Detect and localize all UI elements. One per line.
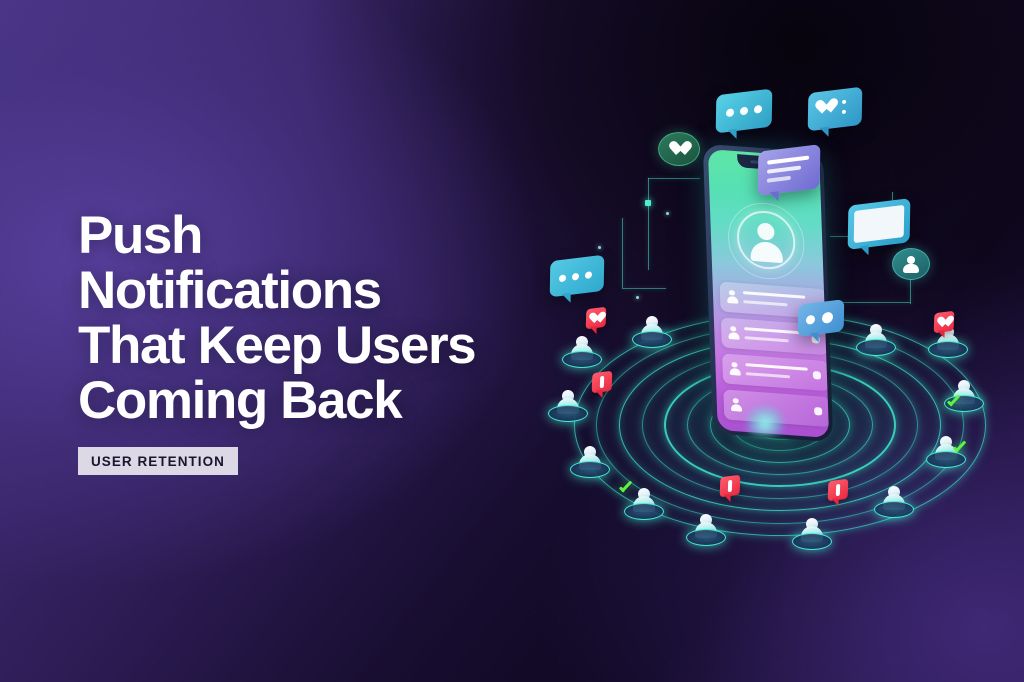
- user-node[interactable]: [632, 308, 672, 348]
- person-icon: [903, 256, 919, 273]
- person-icon: [729, 361, 740, 375]
- sparkle: [666, 212, 669, 215]
- dot-icon: [726, 108, 734, 117]
- avatar-pad: [874, 501, 914, 518]
- avatar-pad: [570, 461, 610, 478]
- user-node[interactable]: [624, 480, 664, 520]
- text-line: [767, 166, 801, 174]
- connector-wire: [622, 288, 666, 289]
- heart-icon: [818, 99, 833, 115]
- avatar-pad: [562, 351, 602, 368]
- badge-heart[interactable]: [934, 311, 955, 334]
- badge-alert[interactable]: [592, 371, 613, 394]
- user-node[interactable]: [570, 438, 610, 478]
- person-icon: [726, 289, 737, 303]
- connector-wire: [622, 218, 623, 288]
- dot-icon: [842, 100, 846, 105]
- dot-icon: [806, 314, 815, 324]
- pill-person[interactable]: [892, 248, 930, 280]
- illustration: [540, 40, 1024, 600]
- pill-heart[interactable]: [658, 132, 700, 166]
- connector-wire: [648, 178, 649, 270]
- person-icon: [728, 325, 739, 339]
- heart-icon: [672, 142, 687, 156]
- avatar-pad: [686, 529, 726, 546]
- notification-row[interactable]: [722, 353, 829, 391]
- sparkle: [636, 296, 639, 299]
- user-node[interactable]: [792, 510, 832, 550]
- text-line: [767, 156, 809, 165]
- dot-icon: [559, 274, 566, 282]
- speech-bubble-dots[interactable]: [550, 255, 605, 298]
- person-icon: [730, 397, 741, 411]
- sparkle: [598, 246, 601, 249]
- avatar-pad: [928, 341, 968, 358]
- alert-icon: [600, 376, 604, 389]
- badge-alert[interactable]: [828, 479, 849, 502]
- notification-dot: [812, 371, 820, 380]
- dot-icon: [585, 271, 592, 279]
- dot-icon: [572, 272, 579, 280]
- alert-icon: [728, 480, 732, 493]
- notification-line: [745, 372, 789, 379]
- dot-icon: [842, 110, 846, 115]
- wire-node: [645, 200, 651, 206]
- speech-bubble-dots[interactable]: [716, 89, 773, 134]
- connector-wire: [648, 178, 700, 179]
- hero-text-block: Push Notifications That Keep Users Comin…: [78, 208, 598, 475]
- notification-dot: [813, 406, 821, 415]
- bubble-content-area: [854, 205, 905, 243]
- avatar-pad: [926, 451, 966, 468]
- beam-core: [746, 406, 784, 436]
- hero-banner: Push Notifications That Keep Users Comin…: [0, 0, 1024, 682]
- dot-icon: [740, 106, 748, 115]
- avatar-pad: [548, 405, 588, 422]
- speech-bubble-lines[interactable]: [758, 144, 821, 196]
- connector-wire: [840, 302, 910, 303]
- user-node[interactable]: [686, 506, 726, 546]
- speech-bubble-blank[interactable]: [848, 198, 911, 250]
- dot-icon: [822, 311, 833, 323]
- status-badge: USER RETENTION: [78, 447, 238, 475]
- badge-heart[interactable]: [586, 307, 607, 330]
- dot-icon: [754, 105, 762, 114]
- speech-bubble-heart[interactable]: [808, 87, 863, 132]
- alert-icon: [836, 484, 840, 497]
- heart-icon: [938, 316, 949, 327]
- speech-bubble-dots[interactable]: [798, 299, 845, 337]
- notification-line: [743, 300, 787, 307]
- notification-line: [744, 336, 788, 343]
- user-node[interactable]: [874, 478, 914, 518]
- avatar-pad: [632, 331, 672, 348]
- notification-line: [745, 363, 807, 371]
- heart-icon: [590, 312, 601, 323]
- notification-line: [742, 291, 804, 299]
- notification-line: [744, 327, 806, 335]
- avatar-pad: [856, 339, 896, 356]
- user-node[interactable]: [548, 382, 588, 422]
- avatar-pad: [792, 533, 832, 550]
- user-node[interactable]: [856, 316, 896, 356]
- badge-alert[interactable]: [720, 475, 741, 498]
- text-line: [767, 176, 791, 183]
- page-title: Push Notifications That Keep Users Comin…: [78, 208, 598, 428]
- avatar-pad: [624, 503, 664, 520]
